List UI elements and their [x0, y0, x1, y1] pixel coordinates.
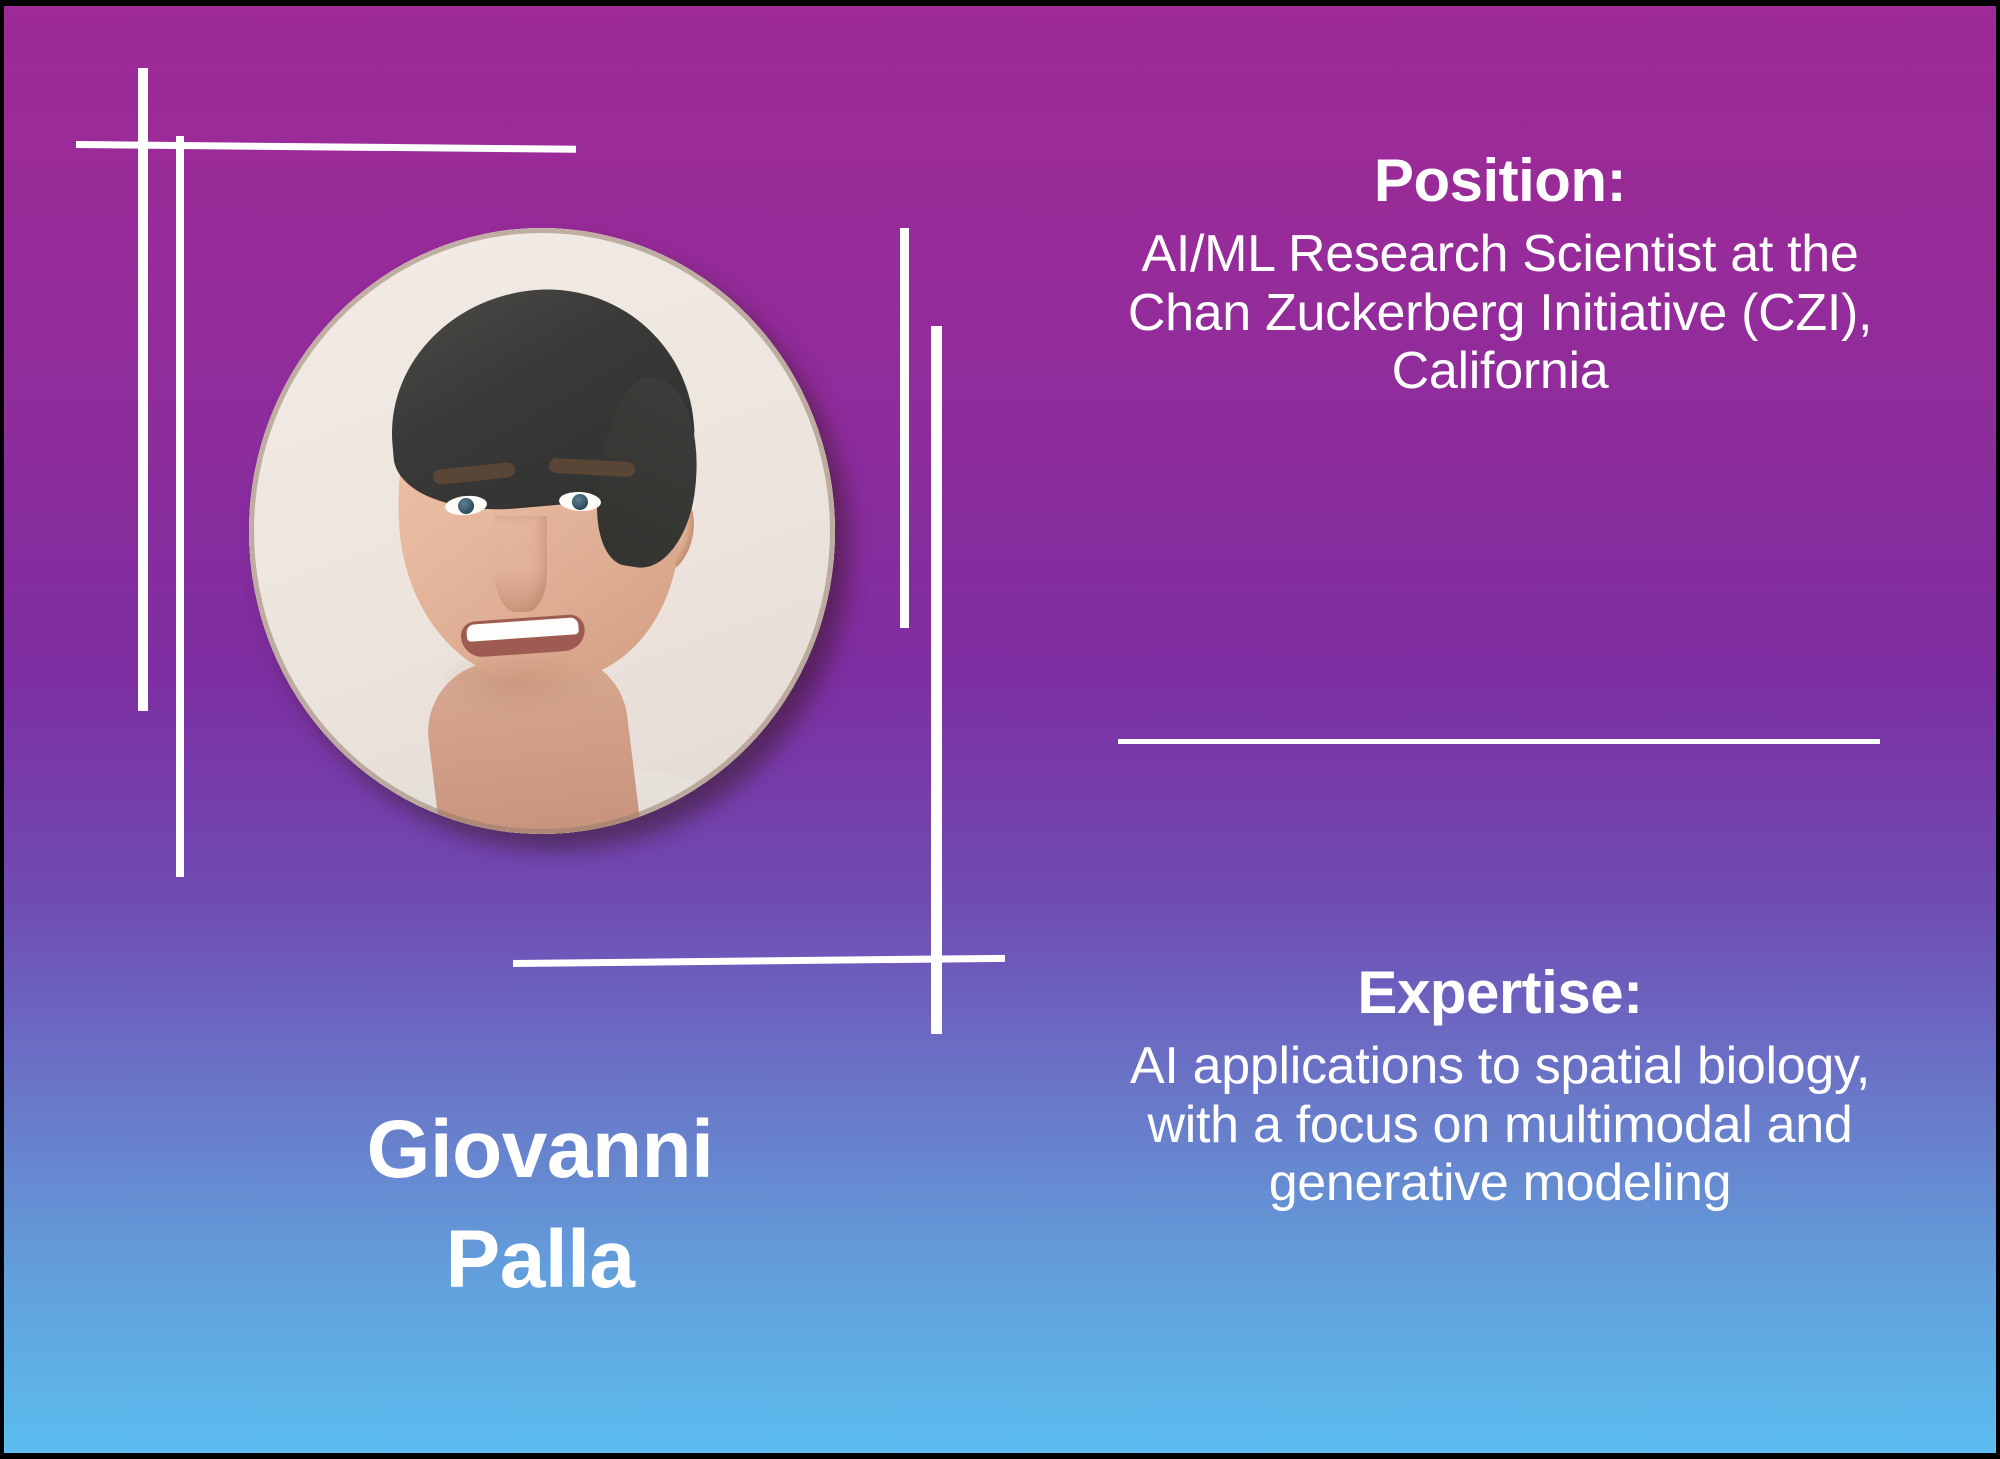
expertise-section: Expertise: AI applications to spatial bi…	[1110, 958, 1890, 1213]
position-heading: Position:	[1110, 146, 1890, 217]
portrait-container	[249, 228, 849, 848]
section-divider-line	[1118, 739, 1880, 744]
expertise-body: AI applications to spatial biology, with…	[1110, 1037, 1890, 1213]
portrait-chin-shading	[439, 646, 599, 716]
decorative-vertical-line-center-left	[900, 228, 909, 628]
decorative-vertical-line-top-left-inner	[176, 136, 184, 877]
portrait-nose	[495, 516, 547, 612]
speaker-profile-slide: Giovanni Palla Position: AI/ML Research …	[0, 0, 2000, 1459]
decorative-vertical-line-center-right	[931, 326, 942, 1034]
portrait-iris-left	[457, 497, 474, 514]
speaker-name: Giovanni Palla	[150, 1095, 930, 1315]
position-body: AI/ML Research Scientist at the Chan Zuc…	[1110, 225, 1890, 401]
speaker-last-name: Palla	[150, 1205, 930, 1315]
expertise-heading: Expertise:	[1110, 958, 1890, 1029]
avatar	[249, 228, 835, 834]
portrait-iris-right	[572, 494, 589, 511]
position-section: Position: AI/ML Research Scientist at th…	[1110, 146, 1890, 401]
decorative-vertical-line-top-left-outer	[138, 68, 148, 711]
portrait-teeth	[466, 617, 579, 642]
speaker-first-name: Giovanni	[150, 1095, 930, 1205]
